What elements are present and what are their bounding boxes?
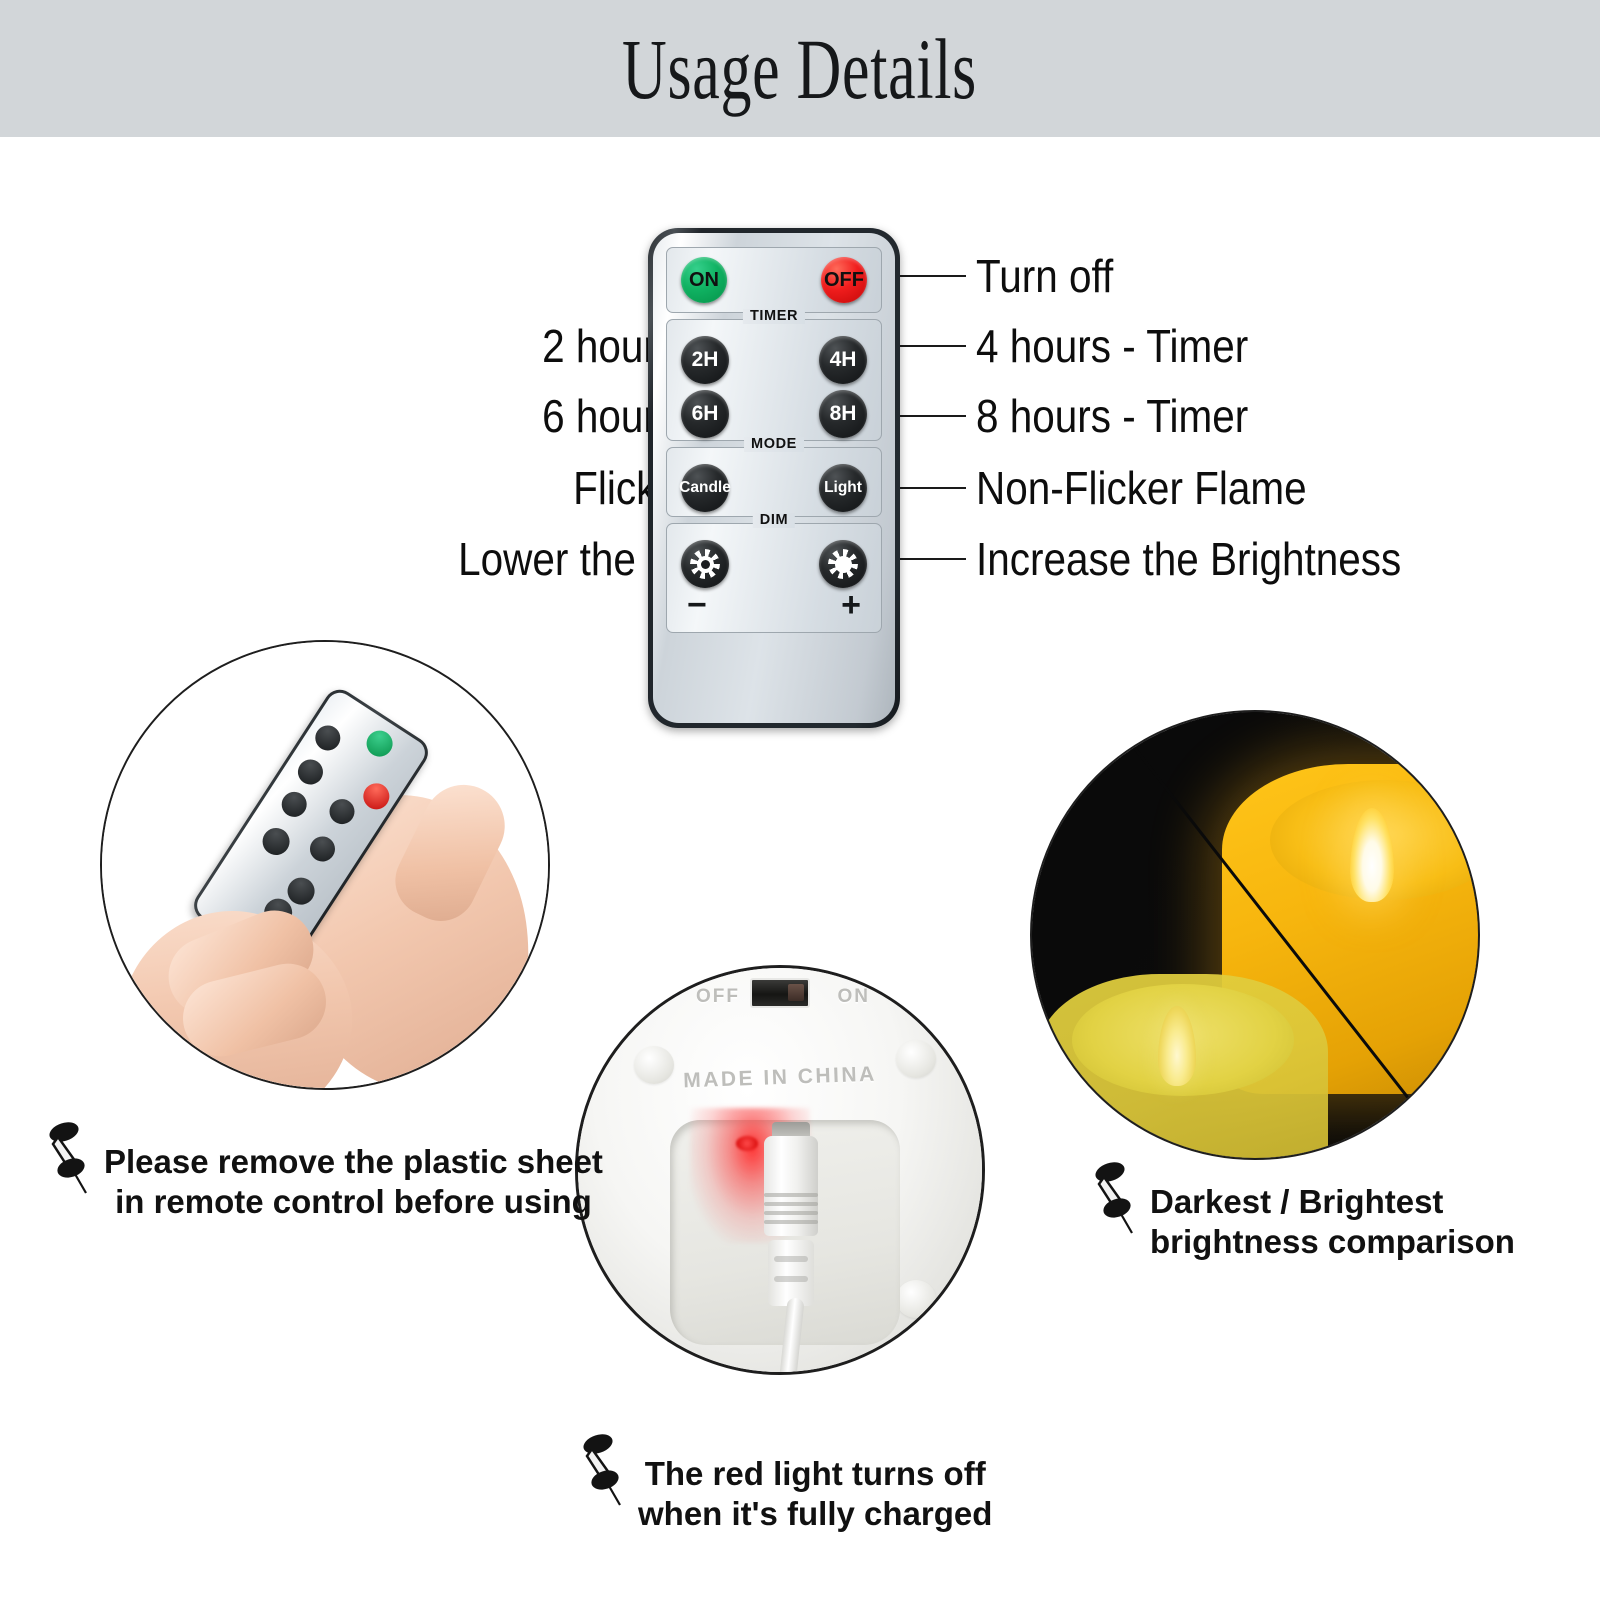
caption-line-2: brightness comparison xyxy=(1150,1222,1515,1262)
remote-dim-up-button[interactable] xyxy=(819,540,867,588)
remote-panel-mode: MODE Candle Light xyxy=(666,447,882,517)
mode-section-label: MODE xyxy=(744,437,804,452)
mini-2h-button xyxy=(311,721,346,756)
brightness-high-icon xyxy=(828,549,858,579)
switch-off-label: OFF xyxy=(696,986,740,1008)
callout-right-label: 4 hours - Timer xyxy=(976,319,1248,373)
dim-plus-label: + xyxy=(841,592,861,619)
photo-remove-plastic-sheet xyxy=(100,640,550,1090)
callout-right-8h-timer: 8 hours - Timer xyxy=(900,385,1600,447)
power-switch[interactable] xyxy=(750,978,810,1008)
mini-on-button xyxy=(362,726,398,762)
mini-8h-button xyxy=(305,832,340,867)
callout-right-label: 8 hours - Timer xyxy=(976,389,1248,443)
header-band: Usage Details xyxy=(0,0,1600,137)
remote-4h-button[interactable]: 4H xyxy=(819,336,867,384)
remote-8h-button[interactable]: 8H xyxy=(819,390,867,438)
leader-line xyxy=(900,558,966,560)
base-foot xyxy=(896,1280,936,1318)
remote-candle-button[interactable]: Candle xyxy=(681,464,729,512)
switch-on-label: ON xyxy=(838,986,871,1008)
remote-panel-power: ON OFF xyxy=(666,247,882,313)
leader-line xyxy=(900,487,966,489)
charging-led xyxy=(736,1136,758,1151)
remote-face: ON OFF TIMER 2H 4H 6H 8H MODE Candle Lig… xyxy=(653,233,895,723)
caption-line-1: The red light turns off xyxy=(645,1455,986,1492)
callout-right-non-flicker-flame: Non-Flicker Flame xyxy=(900,457,1600,519)
callout-right-label: Turn off xyxy=(976,249,1113,303)
page-title: Usage Details xyxy=(623,19,978,119)
remote-2h-button[interactable]: 2H xyxy=(681,336,729,384)
callout-right-increase-brightness: Increase the Brightness xyxy=(900,528,1600,590)
mini-off-button xyxy=(358,778,394,814)
caption-text: The red light turns off when it's fully … xyxy=(638,1454,992,1535)
remote-on-button[interactable]: ON xyxy=(681,257,727,303)
remote-panel-dim: DIM − + xyxy=(666,523,882,633)
leader-line xyxy=(900,345,966,347)
caption-line-1: Darkest / Brightest xyxy=(1150,1183,1443,1220)
caption-line-2: in remote control before using xyxy=(104,1182,603,1222)
remote-off-button[interactable]: OFF xyxy=(821,257,867,303)
leader-line xyxy=(900,275,966,277)
leader-line xyxy=(900,415,966,417)
dim-section-label: DIM xyxy=(753,513,795,528)
caption-line-2: when it's fully charged xyxy=(638,1494,992,1534)
caption-text: Darkest / Brightest brightness compariso… xyxy=(1150,1182,1515,1263)
pushpin-icon xyxy=(44,1120,100,1196)
callout-right-turn-off: Turn off xyxy=(900,245,1600,307)
remote-control: ON OFF TIMER 2H 4H 6H 8H MODE Candle Lig… xyxy=(648,228,900,728)
callout-right-4h-timer: 4 hours - Timer xyxy=(900,315,1600,377)
caption-red-light-charged: The red light turns off when it's fully … xyxy=(578,1430,992,1535)
callout-right-label: Increase the Brightness xyxy=(976,532,1401,586)
caption-line-1: Please remove the plastic sheet xyxy=(104,1143,603,1180)
dim-minus-label: − xyxy=(687,592,707,619)
photo-candle-base-charging: OFF ON MADE IN CHINA xyxy=(575,965,985,1375)
remote-dim-down-button[interactable] xyxy=(681,540,729,588)
caption-text: Please remove the plastic sheet in remot… xyxy=(104,1142,603,1223)
callout-right-label: Non-Flicker Flame xyxy=(976,461,1307,515)
remote-light-button[interactable]: Light xyxy=(819,464,867,512)
brightness-low-icon xyxy=(690,549,720,579)
pushpin-icon xyxy=(578,1432,634,1508)
caption-remove-plastic-sheet: Please remove the plastic sheet in remot… xyxy=(44,1118,603,1223)
mini-4h-button xyxy=(325,794,360,829)
remote-panel-timer: TIMER 2H 4H 6H 8H xyxy=(666,319,882,441)
timer-section-label: TIMER xyxy=(743,309,805,324)
plug-strain-relief xyxy=(768,1240,814,1306)
mini-6h-button xyxy=(293,755,328,790)
pushpin-icon xyxy=(1090,1160,1146,1236)
caption-brightness-comparison: Darkest / Brightest brightness compariso… xyxy=(1090,1158,1515,1263)
mini-dim-down-button xyxy=(257,823,294,860)
mini-candle-button xyxy=(277,787,312,822)
base-foot xyxy=(634,1046,674,1084)
photo-brightness-comparison xyxy=(1030,710,1480,1160)
base-foot xyxy=(896,1040,936,1078)
plug-grip-rings xyxy=(764,1193,818,1235)
remote-6h-button[interactable]: 6H xyxy=(681,390,729,438)
